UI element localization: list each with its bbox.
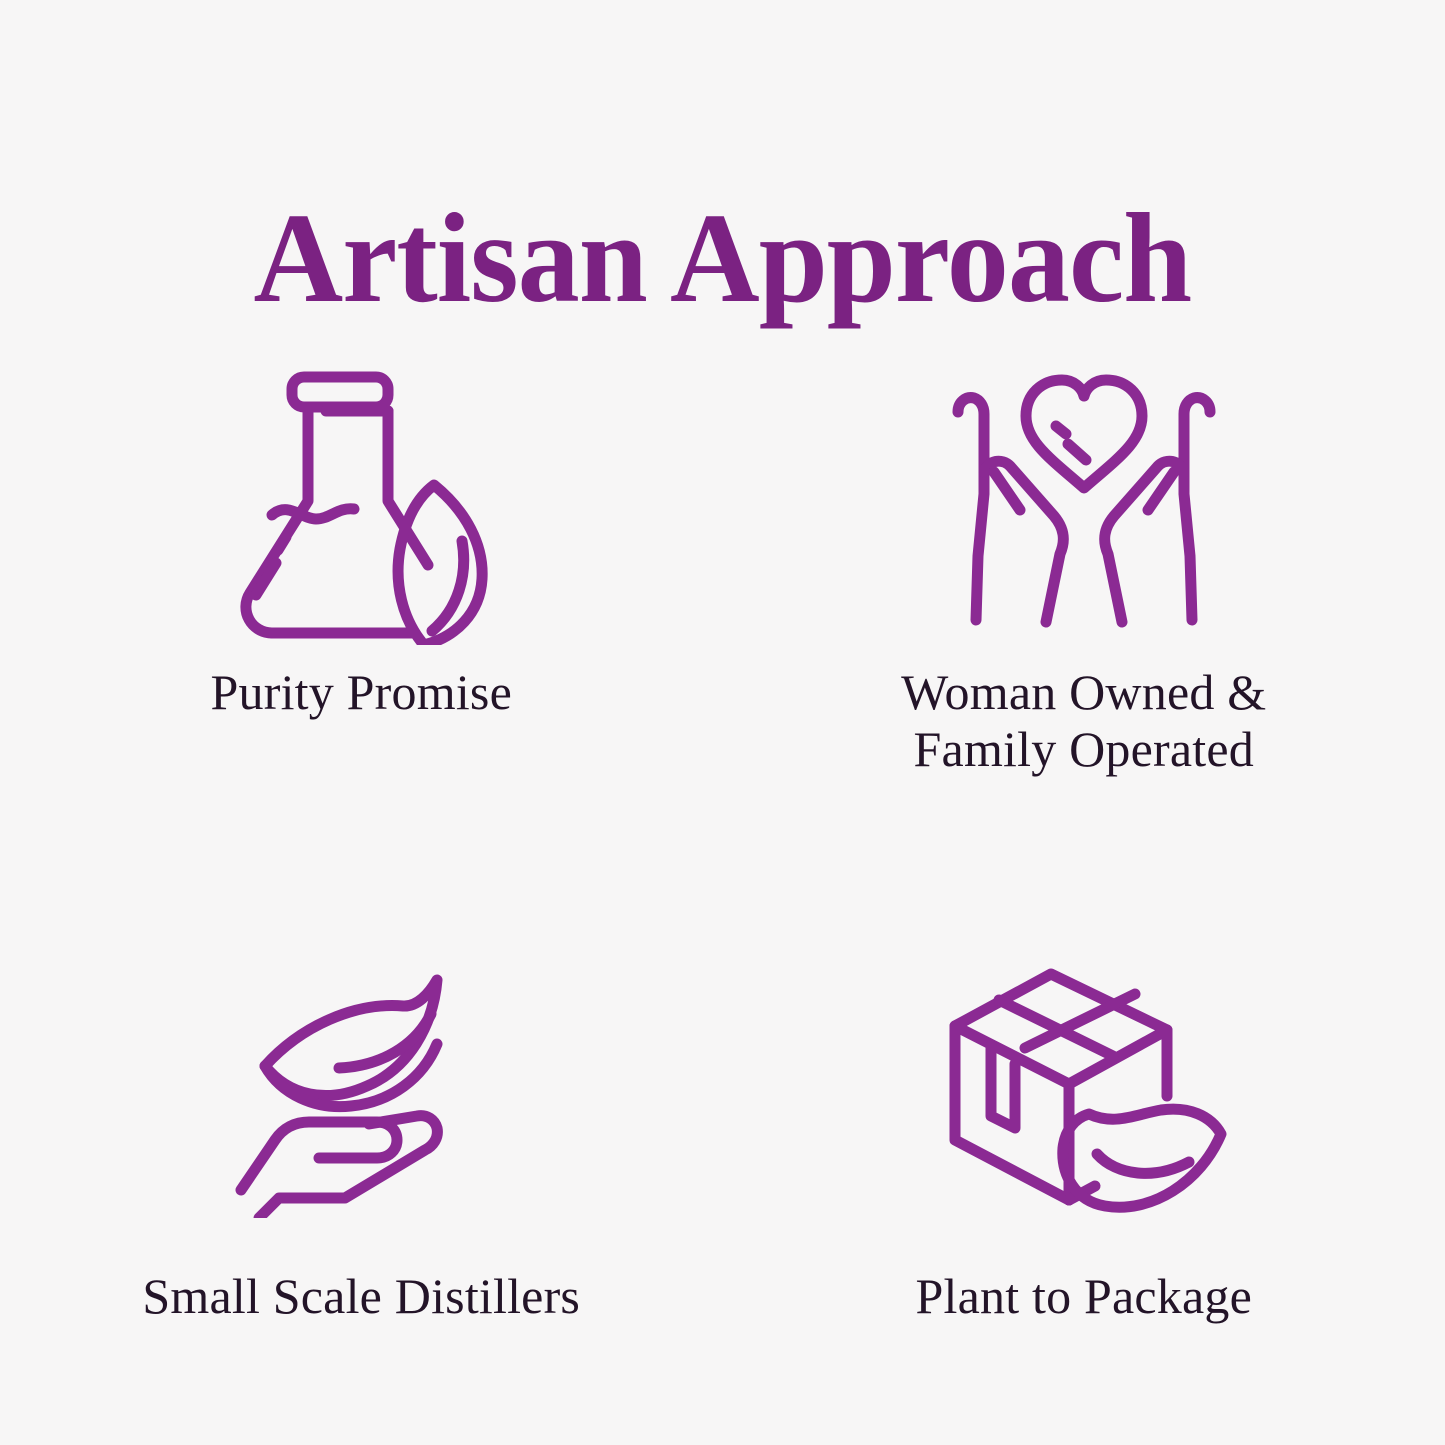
box-leaf-icon <box>934 958 1234 1228</box>
artisan-approach-infographic: Artisan Approach <box>0 0 1445 1445</box>
hands-holding-heart-icon <box>934 350 1234 650</box>
feature-item-plant-to-package: Plant to Package <box>723 870 1445 1400</box>
page-title: Artisan Approach <box>254 194 1192 322</box>
feature-label-woman-owned: Woman Owned & Family Operated <box>901 664 1266 777</box>
feature-label-purity-promise: Purity Promise <box>211 664 512 721</box>
feature-item-small-scale-distillers: Small Scale Distillers <box>0 870 723 1400</box>
feature-item-woman-owned: Woman Owned & Family Operated <box>723 340 1445 870</box>
feature-label-small-scale-distillers: Small Scale Distillers <box>142 1268 580 1325</box>
feature-label-plant-to-package: Plant to Package <box>916 1268 1252 1325</box>
feature-item-purity-promise: Purity Promise <box>0 340 723 870</box>
flask-leaf-icon <box>211 350 511 650</box>
feature-grid: Purity Promise <box>0 340 1445 1400</box>
hand-holding-leaf-icon <box>211 958 511 1228</box>
